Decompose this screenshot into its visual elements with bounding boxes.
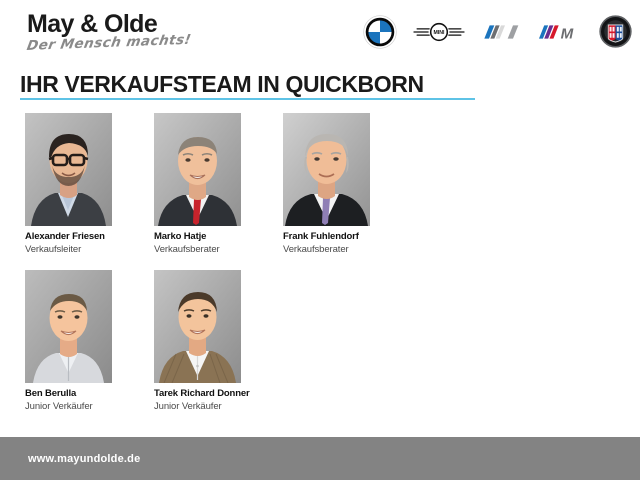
member-role: Verkaufsberater (154, 244, 262, 256)
member-name: Marko Hatje (154, 231, 262, 243)
website-url[interactable]: www.mayundolde.de (28, 453, 140, 465)
team-row: Alexander Friesen Verkaufsleiter (25, 113, 625, 256)
brand-logo-strip: MINI M (363, 14, 632, 54)
member-photo (154, 270, 241, 383)
page-header: May & Olde Der Mensch machts! (0, 0, 640, 66)
member-role: Junior Verkäufer (154, 401, 262, 413)
member-name: Alexander Friesen (25, 231, 133, 243)
member-role: Verkaufsberater (283, 244, 391, 256)
bmw-m-logo: M (537, 22, 583, 47)
team-member-card[interactable]: Frank Fuhlendorf Verkaufsberater (283, 113, 391, 256)
page-title-block: IHR VERKAUFSTEAM IN QUICKBORN (20, 72, 620, 100)
svg-text:M: M (561, 25, 574, 41)
team-row: Ben Berulla Junior Verkäufer (25, 270, 625, 413)
team-member-card[interactable]: Ben Berulla Junior Verkäufer (25, 270, 133, 413)
member-photo (25, 270, 112, 383)
member-role: Junior Verkäufer (25, 401, 133, 413)
svg-text:MINI: MINI (434, 29, 446, 35)
mini-logo: MINI (413, 19, 465, 50)
alpina-logo (599, 15, 632, 53)
bmw-i-logo (481, 22, 521, 47)
team-grid: Alexander Friesen Verkaufsleiter (25, 113, 625, 413)
page-title: IHR VERKAUFSTEAM IN QUICKBORN (20, 72, 620, 96)
title-underline (20, 98, 475, 100)
member-photo (154, 113, 241, 226)
member-name: Frank Fuhlendorf (283, 231, 391, 243)
member-photo (283, 113, 370, 226)
company-logo[interactable]: May & Olde Der Mensch machts! (27, 12, 247, 54)
bmw-logo (363, 15, 397, 54)
page-footer: www.mayundolde.de (0, 437, 640, 480)
member-role: Verkaufsleiter (25, 244, 133, 256)
member-name: Tarek Richard Donner (154, 388, 262, 400)
member-name: Ben Berulla (25, 388, 133, 400)
team-member-card[interactable]: Alexander Friesen Verkaufsleiter (25, 113, 133, 256)
member-photo (25, 113, 112, 226)
team-member-card[interactable]: Tarek Richard Donner Junior Verkäufer (154, 270, 262, 413)
team-member-card[interactable]: Marko Hatje Verkaufsberater (154, 113, 262, 256)
